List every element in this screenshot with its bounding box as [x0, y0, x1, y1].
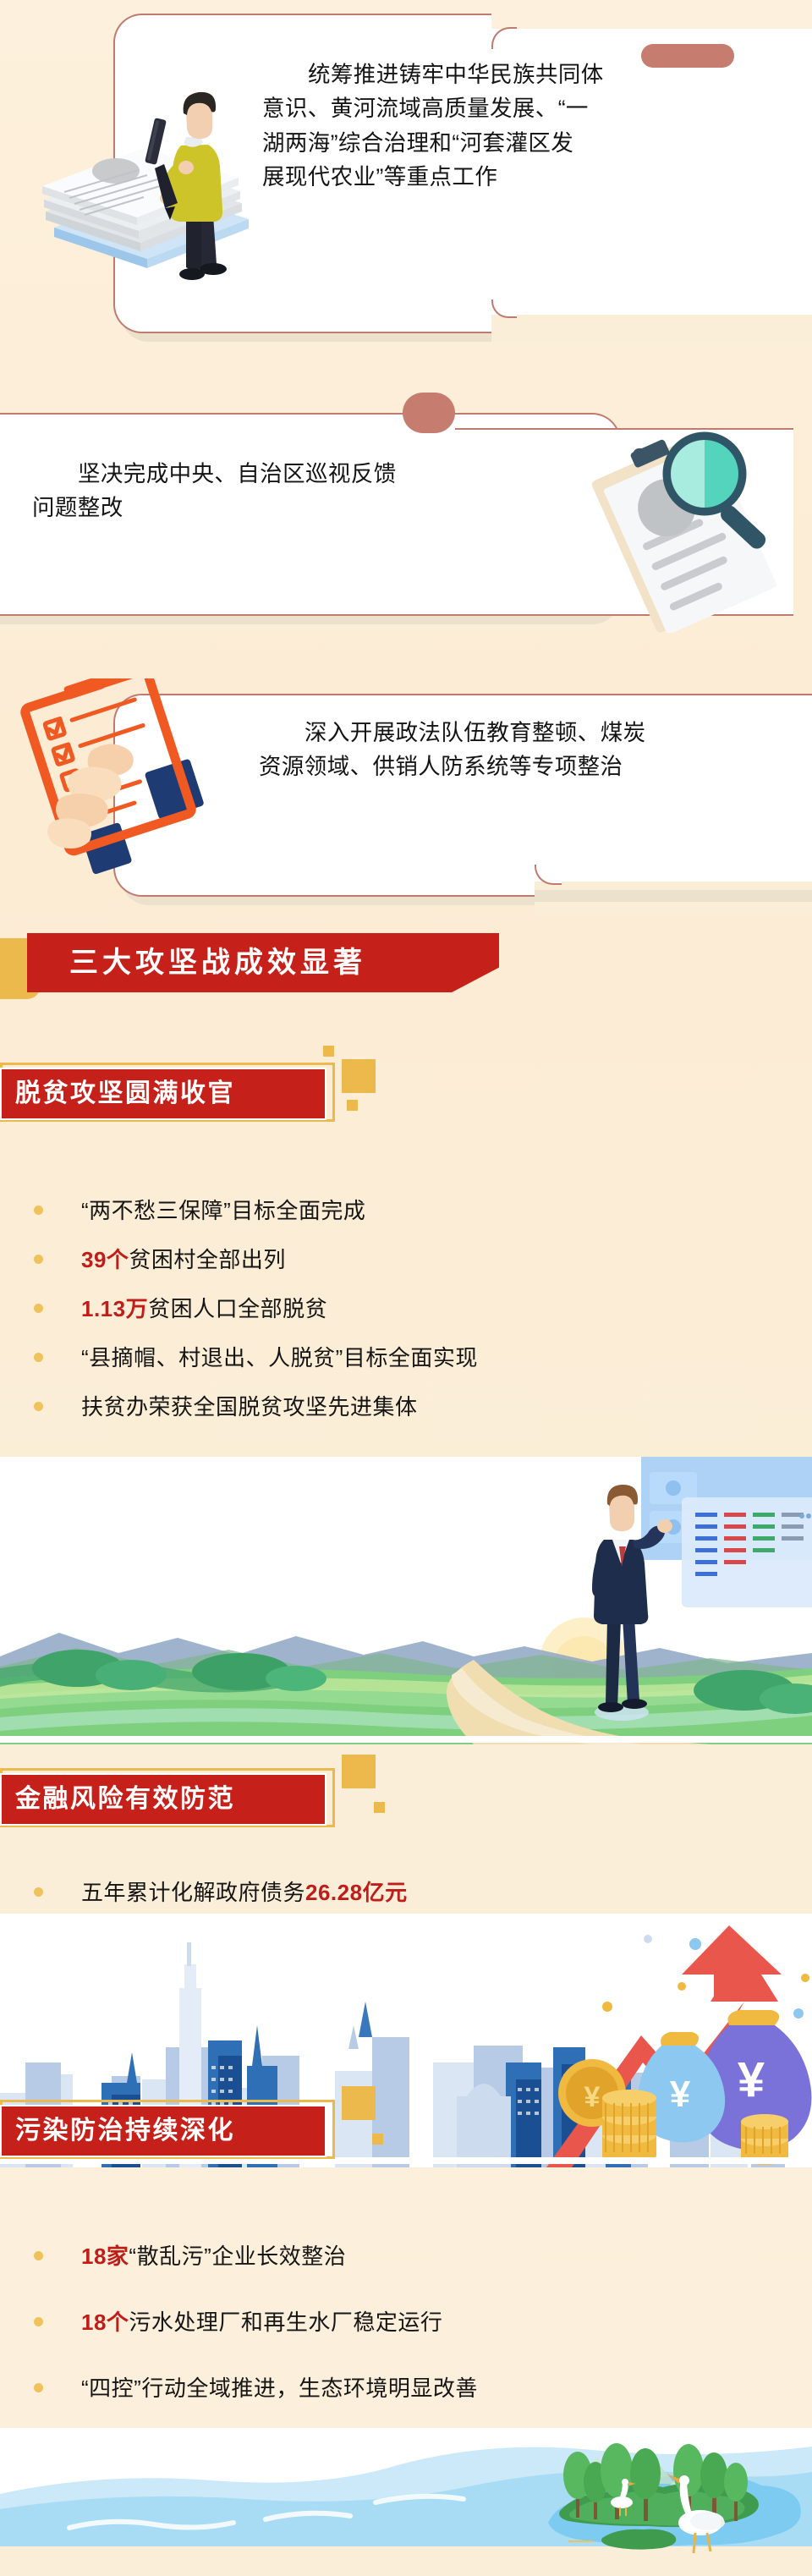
bullet-text-plain: “四控”行动全域推进，生态环境明显改善: [81, 2376, 478, 2401]
bullet-list-poverty: “两不愁三保障”目标全面完成 39个贫困村全部出列 1.13万贫困人口全部脱贫 …: [0, 1188, 812, 1433]
list-item: 1.13万贫困人口全部脱贫: [0, 1286, 812, 1335]
bullet-text: “两不愁三保障”目标全面完成: [81, 1188, 365, 1233]
divider-band: [0, 1736, 812, 1743]
section-header-label: 脱贫攻坚圆满收官: [15, 1068, 235, 1120]
card-line: 坚决完成中央、自治区巡视反馈: [78, 461, 397, 486]
bullet-text-plain: 污水处理厂和再生水厂稳定运行: [129, 2310, 442, 2335]
card-notch-pill: [403, 393, 455, 433]
bullet-text: 18个污水处理厂和再生水厂稳定运行: [81, 2299, 442, 2345]
bullet-text: 扶贫办荣获全国脱贫攻坚先进集体: [81, 1384, 418, 1430]
bullet-text: 18家“散乱污”企业长效整治: [81, 2233, 346, 2279]
bullet-dot-icon: [34, 1353, 43, 1362]
header-accent-square-small: [374, 1802, 385, 1813]
bullet-highlight: 18家: [81, 2244, 129, 2269]
list-item: 18家“散乱污”企业长效整治: [0, 2233, 812, 2299]
bullet-text: 1.13万贫困人口全部脱贫: [81, 1286, 327, 1332]
documents-stack-with-pen-and-person-illustration: [20, 46, 274, 299]
bullet-text-plain: 贫困村全部出列: [129, 1247, 286, 1272]
section-header-label: 污染防治持续深化: [15, 2105, 235, 2157]
header-accent-square-large: [342, 1059, 376, 1093]
bullet-dot-icon: [34, 2383, 43, 2392]
card-notch-shadow: [535, 890, 812, 902]
card-line: 展现代农业”等重点工作: [262, 164, 497, 189]
list-item: 五年累计化解政府债务26.28亿元: [0, 1870, 812, 1919]
bullet-text: 五年累计化解政府债务26.28亿元: [81, 1870, 408, 1915]
bullet-dot-icon: [34, 1206, 43, 1215]
bullet-text-plain: 扶贫办荣获全国脱贫攻坚先进集体: [81, 1394, 418, 1420]
wetland-water-with-trees-and-herons: [0, 2428, 812, 2576]
bullet-highlight: 26.28亿元: [305, 1880, 408, 1905]
card-special-text: 深入开展政法队伍教育整顿、煤炭 资源领域、供销人防系统等专项整治: [259, 716, 809, 784]
list-item: “两不愁三保障”目标全面完成: [0, 1188, 812, 1237]
card-bottom-notch: [491, 315, 812, 343]
bullet-dot-icon: [34, 2251, 43, 2260]
main-banner-label: 三大攻坚战成效显著: [69, 933, 366, 992]
bullet-text-plain: 贫困人口全部脱贫: [148, 1296, 327, 1321]
bullet-dot-icon: [34, 2317, 43, 2326]
list-item: “县摘帽、村退出、人脱贫”目标全面实现: [0, 1335, 812, 1384]
list-item: “四控”行动全域推进，生态环境明显改善: [0, 2365, 812, 2431]
bullet-dot-icon: [34, 1887, 43, 1897]
bullet-text: “县摘帽、村退出、人脱贫”目标全面实现: [81, 1335, 478, 1381]
header-accent-square-large: [342, 1755, 376, 1788]
card-top-notch: [491, 0, 812, 29]
card-line: 资源领域、供销人防系统等专项整治: [259, 754, 623, 779]
section-header-label: 金融风险有效防范: [15, 1773, 235, 1826]
bullet-dot-icon: [34, 1304, 43, 1313]
card-line: 意识、黄河流域高质量发展、“一: [262, 96, 589, 121]
card-key-work: 统筹推进铸牢中华民族共同体 意识、黄河流域高质量发展、“一 湖两海”综合治理和“…: [113, 14, 812, 342]
header-accent-square-tiny: [347, 1100, 358, 1111]
card-inspection-text: 坚决完成中央、自治区巡视反馈 问题整改: [32, 457, 506, 525]
bullet-dot-icon: [34, 1255, 43, 1264]
bullet-list-finance: 五年累计化解政府债务26.28亿元: [0, 1870, 812, 1919]
card-key-work-text: 统筹推进铸牢中华民族共同体 意识、黄河流域高质量发展、“一 湖两海”综合治理和“…: [262, 58, 793, 194]
clipboard-with-magnifier-illustration: [573, 421, 802, 633]
list-item: 扶贫办荣获全国脱贫攻坚先进集体: [0, 1384, 812, 1433]
bullet-text: 39个贫困村全部出列: [81, 1237, 286, 1283]
svg-text:¥: ¥: [670, 2073, 691, 2115]
header-accent-square-large: [342, 2086, 376, 2120]
svg-text:¥: ¥: [584, 2081, 601, 2113]
card-inspection-feedback: 坚决完成中央、自治区巡视反馈 问题整改: [0, 413, 621, 624]
bullet-highlight: 1.13万: [81, 1296, 148, 1321]
bullet-list-pollution: 18家“散乱污”企业长效整治 18个污水处理厂和再生水厂稳定运行 “四控”行动全…: [0, 2233, 812, 2431]
bullet-text-plain: “两不愁三保障”目标全面完成: [81, 1198, 365, 1223]
card-line: 湖两海”综合治理和“河套灌区发: [262, 130, 573, 156]
svg-text:¥: ¥: [738, 2052, 765, 2107]
bullet-dot-icon: [34, 1402, 43, 1411]
card-line: 问题整改: [32, 495, 123, 520]
list-item: 39个贫困村全部出列: [0, 1237, 812, 1286]
bullet-text-plain: “县摘帽、村退出、人脱贫”目标全面实现: [81, 1345, 478, 1370]
main-banner: 三大攻坚战成效显著: [0, 933, 499, 999]
bullet-highlight: 18个: [81, 2310, 129, 2335]
clipboard-checklist-with-hand-illustration: [15, 678, 227, 890]
bullet-highlight: 39个: [81, 1247, 129, 1272]
card-line: 统筹推进铸牢中华民族共同体: [308, 62, 604, 87]
header-accent-square-small: [323, 1046, 334, 1057]
header-accent-square-small: [372, 2134, 383, 2145]
card-line: 深入开展政法队伍教育整顿、煤炭: [304, 720, 646, 745]
bullet-text-plain: 五年累计化解政府债务: [81, 1880, 305, 1905]
green-farmland-with-businessman-and-data-dashboard: [0, 1457, 812, 1744]
bullet-text-plain: “散乱污”企业长效整治: [129, 2244, 346, 2269]
bullet-text: “四控”行动全域推进，生态环境明显改善: [81, 2365, 478, 2411]
list-item: 18个污水处理厂和再生水厂稳定运行: [0, 2299, 812, 2365]
